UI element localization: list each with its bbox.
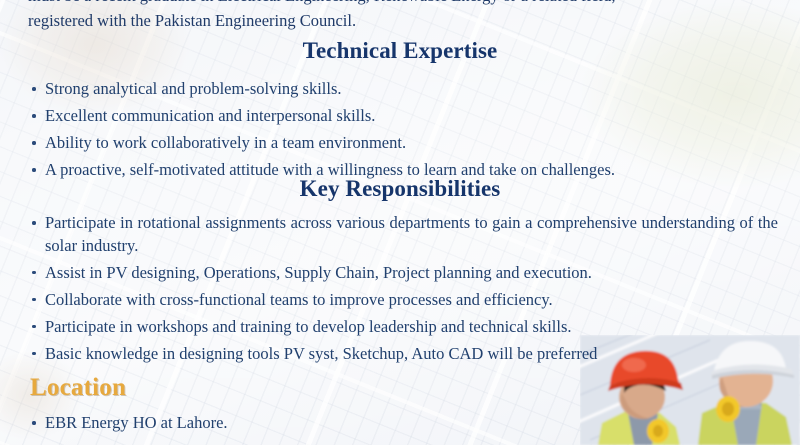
- location-list: EBR Energy HO at Lahore.: [28, 412, 228, 435]
- key-responsibilities-list: Participate in rotational assignments ac…: [28, 212, 778, 370]
- list-item: Collaborate with cross-functional teams …: [28, 289, 778, 312]
- list-item: Ability to work collaboratively in a tea…: [28, 132, 740, 155]
- list-item: Strong analytical and problem-solving sk…: [28, 78, 740, 101]
- list-item: Basic knowledge in designing tools PV sy…: [28, 343, 778, 366]
- list-item: Participate in workshops and training to…: [28, 316, 778, 339]
- technical-expertise-list: Strong analytical and problem-solving sk…: [28, 78, 740, 186]
- intro-line: registered with the Pakistan Engineering…: [28, 10, 356, 32]
- key-responsibilities-heading: Key Responsibilities: [0, 176, 800, 202]
- list-item: Assist in PV designing, Operations, Supp…: [28, 262, 778, 285]
- list-item: Participate in rotational assignments ac…: [28, 212, 778, 257]
- list-item: EBR Energy HO at Lahore.: [28, 412, 228, 435]
- cut-off-intro-line: must be a recent graduate in Electrical …: [28, 0, 772, 6]
- list-item: Excellent communication and interpersona…: [28, 105, 740, 128]
- job-posting-flyer: must be a recent graduate in Electrical …: [0, 0, 800, 445]
- technical-expertise-heading: Technical Expertise: [0, 38, 800, 64]
- location-heading: Location: [30, 374, 126, 402]
